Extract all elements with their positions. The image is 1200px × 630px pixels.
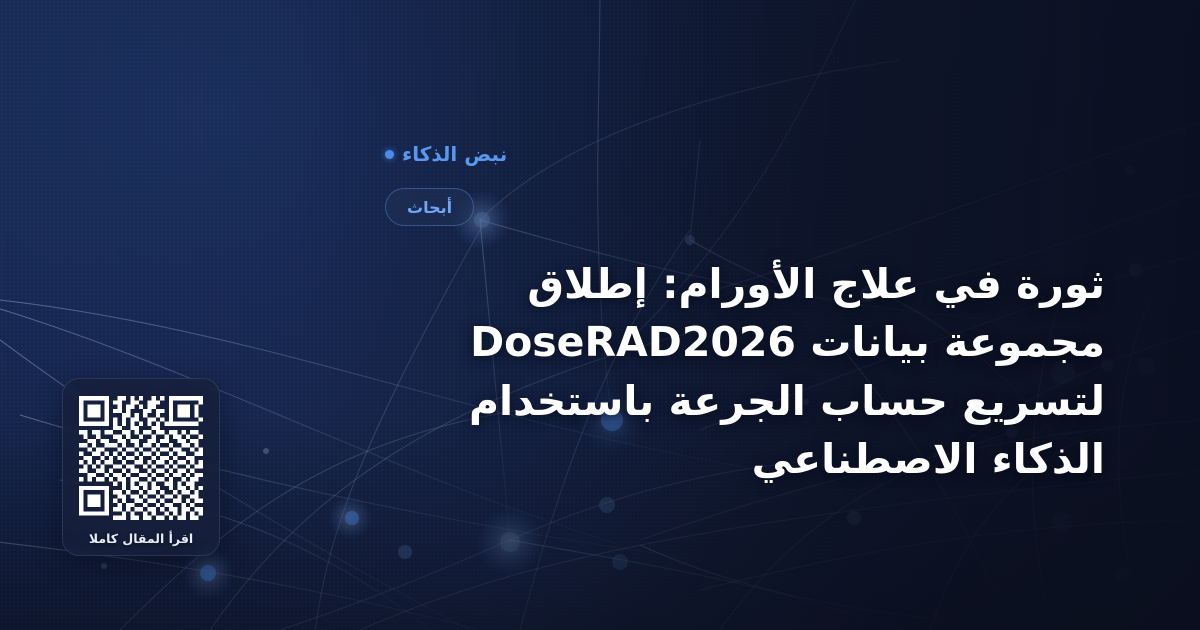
page-title: ثورة في علاج الأورام: إطلاق مجموعة بيانا… (385, 255, 1105, 488)
category-badge[interactable]: أبحاث (385, 188, 474, 226)
brand-name: نبض الذكاء (402, 142, 507, 166)
content-column: نبض الذكاء أبحاث ثورة في علاج الأورام: إ… (385, 0, 1145, 630)
social-share-card: اقرأ المقال كاملا نبض الذكاء أبحاث ثورة … (0, 0, 1200, 630)
qr-code-icon (79, 396, 203, 520)
brand-dot-icon (385, 150, 394, 159)
qr-code-card[interactable]: اقرأ المقال كاملا (62, 378, 220, 556)
qr-caption: اقرأ المقال كاملا (89, 531, 193, 546)
brand[interactable]: نبض الذكاء (385, 142, 507, 166)
